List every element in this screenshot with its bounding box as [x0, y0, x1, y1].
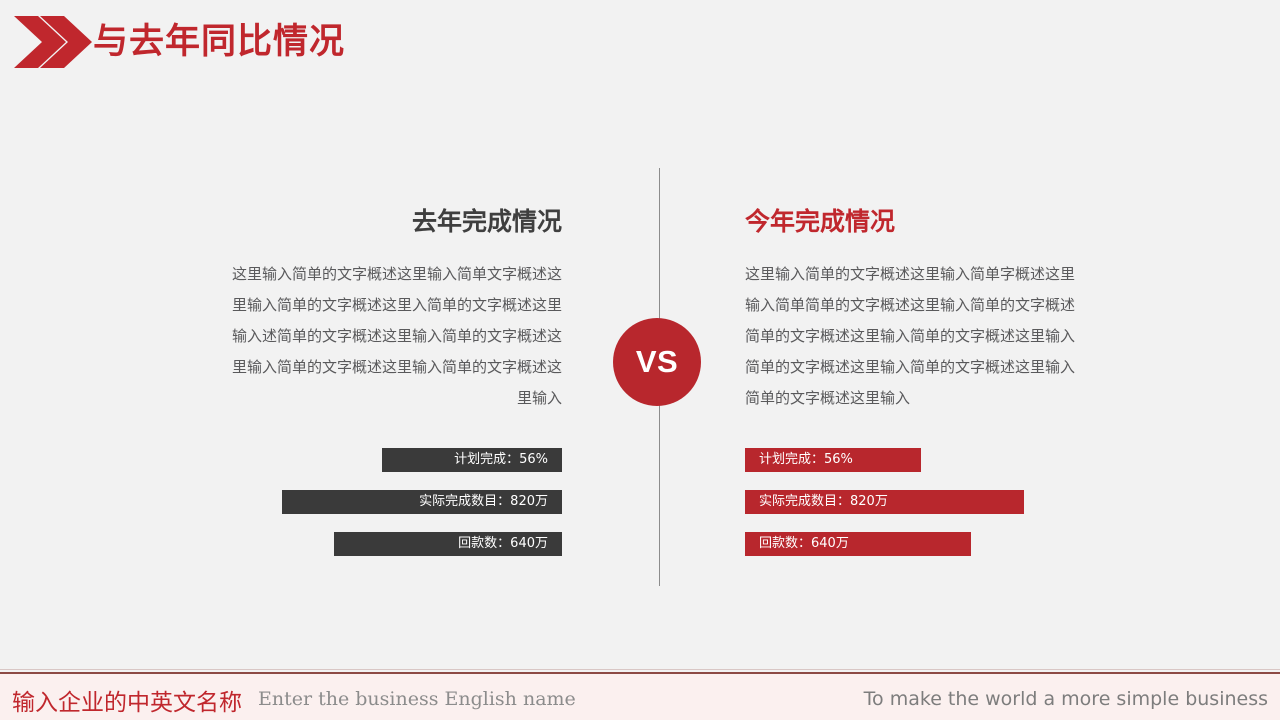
footer-divider: [0, 669, 1280, 670]
footer-company-name-en: Enter the business English name: [258, 688, 576, 710]
double-chevron-right-icon: [14, 16, 92, 68]
stat-bar-actual-left: 实际完成数目：820万: [282, 490, 562, 514]
stat-bars-right: 计划完成：56% 实际完成数目：820万 回款数：640万: [745, 448, 1075, 574]
column-right-heading: 今年完成情况: [745, 205, 1075, 239]
slide-header: 与去年同比情况: [0, 0, 1280, 90]
footer-tagline: To make the world a more simple business: [864, 688, 1268, 710]
column-left-body: 这里输入简单的文字概述这里输入简单文字概述这里输入简单的文字概述这里入简单的文字…: [232, 259, 562, 414]
stat-bar-row: 实际完成数目：820万: [232, 490, 562, 532]
page-title: 与去年同比情况: [93, 16, 345, 68]
stat-bar-row: 计划完成：56%: [745, 448, 1075, 490]
stat-bar-row: 实际完成数目：820万: [745, 490, 1075, 532]
column-last-year: 去年完成情况 这里输入简单的文字概述这里输入简单文字概述这里输入简单的文字概述这…: [232, 205, 562, 414]
stat-bar-row: 回款数：640万: [232, 532, 562, 574]
slide-footer: 输入企业的中英文名称 Enter the business English na…: [0, 672, 1280, 720]
stat-bar-plan-right: 计划完成：56%: [745, 448, 921, 472]
footer-company-name-cn: 输入企业的中英文名称: [12, 683, 242, 717]
stat-bar-row: 计划完成：56%: [232, 448, 562, 490]
column-this-year: 今年完成情况 这里输入简单的文字概述这里输入简单字概述这里输入简单简单的文字概述…: [745, 205, 1075, 414]
stat-bars-left: 计划完成：56% 实际完成数目：820万 回款数：640万: [232, 448, 562, 574]
column-right-body: 这里输入简单的文字概述这里输入简单字概述这里输入简单简单的文字概述这里输入简单的…: [745, 259, 1075, 414]
stat-bar-row: 回款数：640万: [745, 532, 1075, 574]
vs-badge: VS: [613, 318, 701, 406]
column-left-heading: 去年完成情况: [232, 205, 562, 239]
stat-bar-plan-left: 计划完成：56%: [382, 448, 562, 472]
stat-bar-payment-left: 回款数：640万: [334, 532, 562, 556]
stat-bar-actual-right: 实际完成数目：820万: [745, 490, 1024, 514]
stat-bar-payment-right: 回款数：640万: [745, 532, 971, 556]
